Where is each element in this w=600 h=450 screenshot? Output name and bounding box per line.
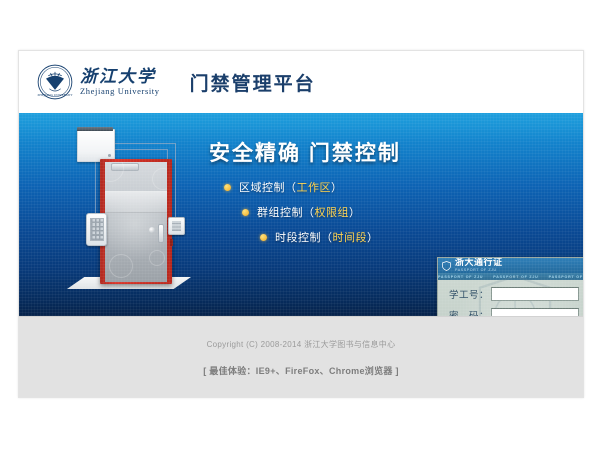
feature-tail: ）	[331, 179, 343, 195]
university-name-en: Zhejiang University	[80, 87, 160, 96]
site-footer: Copyright (C) 2008-2014 浙江大学图书与信息中心 [ 最佳…	[19, 316, 583, 398]
feature-highlight: 工作区	[297, 179, 332, 195]
feature-item-time-control: 时段控制（ 时间段 ）	[260, 229, 379, 245]
zju-seal-icon: ZHEJIANG UNIVERSITY	[37, 64, 73, 100]
access-control-illustration	[55, 117, 215, 307]
feature-tail: ）	[349, 204, 361, 220]
page-card: ZHEJIANG UNIVERSITY 浙江大学 Zhejiang Univer…	[18, 50, 584, 398]
feature-item-group-control: 群组控制（ 权限组 ）	[242, 204, 379, 220]
bullet-dot-icon	[224, 184, 231, 191]
door-knob	[149, 227, 155, 233]
browser-support-text: [ 最佳体验：IE9+、FireFox、Chrome浏览器 ]	[203, 364, 399, 377]
keypad-reader	[86, 213, 107, 246]
access-controller-box	[77, 129, 115, 162]
wire-segment	[95, 160, 96, 216]
strip-text: PASSPORT OF ZJU	[549, 275, 583, 279]
student-staff-id-label: 学工号：	[449, 287, 491, 301]
wire-segment	[175, 143, 176, 222]
card-reader	[168, 217, 185, 235]
university-name: 浙江大学 Zhejiang University	[80, 68, 160, 96]
door-pattern	[149, 250, 165, 266]
svg-text:ZHEJIANG UNIVERSITY: ZHEJIANG UNIVERSITY	[37, 93, 72, 97]
feature-highlight: 权限组	[315, 204, 350, 220]
hero-banner: 安全精确 门禁控制 区域控制（ 工作区 ） 群组控制（ 权限组 ） 时段	[19, 113, 583, 316]
copyright-text: Copyright (C) 2008-2014 浙江大学图书与信息中心	[207, 339, 396, 350]
password-input[interactable]	[491, 308, 579, 316]
login-panel-title: 浙大通行证	[455, 258, 503, 267]
feature-label: 区域控制（	[239, 179, 297, 195]
university-name-cn: 浙江大学	[80, 68, 160, 85]
door-leaf	[105, 162, 167, 282]
strip-text: PASSPORT OF ZJU	[438, 275, 483, 279]
feature-item-area-control: 区域控制（ 工作区 ）	[224, 179, 379, 195]
feature-highlight: 时间段	[333, 229, 368, 245]
student-staff-id-input[interactable]	[491, 287, 579, 301]
feature-tail: ）	[367, 229, 379, 245]
field-row-student-staff-id: 学工号：	[438, 287, 583, 301]
feature-label: 时段控制（	[275, 229, 333, 245]
login-panel-header: 浙大通行证 PASSPORT OF ZJU	[438, 258, 583, 273]
strip-text: PASSPORT OF ZJU	[493, 275, 538, 279]
login-panel: 浙大通行证 PASSPORT OF ZJU PASSPORT OF ZJU PA…	[437, 257, 583, 316]
door-pattern	[105, 162, 124, 182]
door-glass-panel	[105, 191, 167, 213]
login-form: 学工号： 密 码： 登录 登录添加 校园卡密码登录	[438, 280, 583, 316]
feature-list: 区域控制（ 工作区 ） 群组控制（ 权限组 ） 时段控制（ 时间段 ）	[224, 179, 379, 254]
screenshot-root: ZHEJIANG UNIVERSITY 浙江大学 Zhejiang Univer…	[0, 0, 600, 450]
feature-label: 群组控制（	[257, 204, 315, 220]
bullet-dot-icon	[260, 234, 267, 241]
page-title: 门禁管理平台	[190, 69, 316, 96]
security-door	[100, 159, 172, 284]
door-pattern	[109, 254, 133, 278]
login-decorative-strip: PASSPORT OF ZJU PASSPORT OF ZJU PASSPORT…	[438, 273, 583, 280]
site-header: ZHEJIANG UNIVERSITY 浙江大学 Zhejiang Univer…	[19, 51, 583, 113]
password-label: 密 码：	[449, 308, 491, 316]
login-panel-subtitle: PASSPORT OF ZJU	[455, 269, 503, 273]
university-logo[interactable]: ZHEJIANG UNIVERSITY 浙江大学 Zhejiang Univer…	[37, 64, 160, 100]
keypad-keys-icon	[90, 218, 104, 241]
wire-segment	[113, 149, 167, 150]
wire-segment	[113, 143, 175, 144]
controller-led-icon	[108, 154, 111, 157]
banner-slogan: 安全精确 门禁控制	[209, 137, 401, 167]
field-row-password: 密 码：	[438, 308, 583, 316]
bullet-dot-icon	[242, 209, 249, 216]
door-pattern	[152, 168, 167, 190]
door-handle	[158, 224, 164, 243]
door-strike-plate	[170, 239, 173, 246]
shield-icon	[442, 261, 451, 271]
